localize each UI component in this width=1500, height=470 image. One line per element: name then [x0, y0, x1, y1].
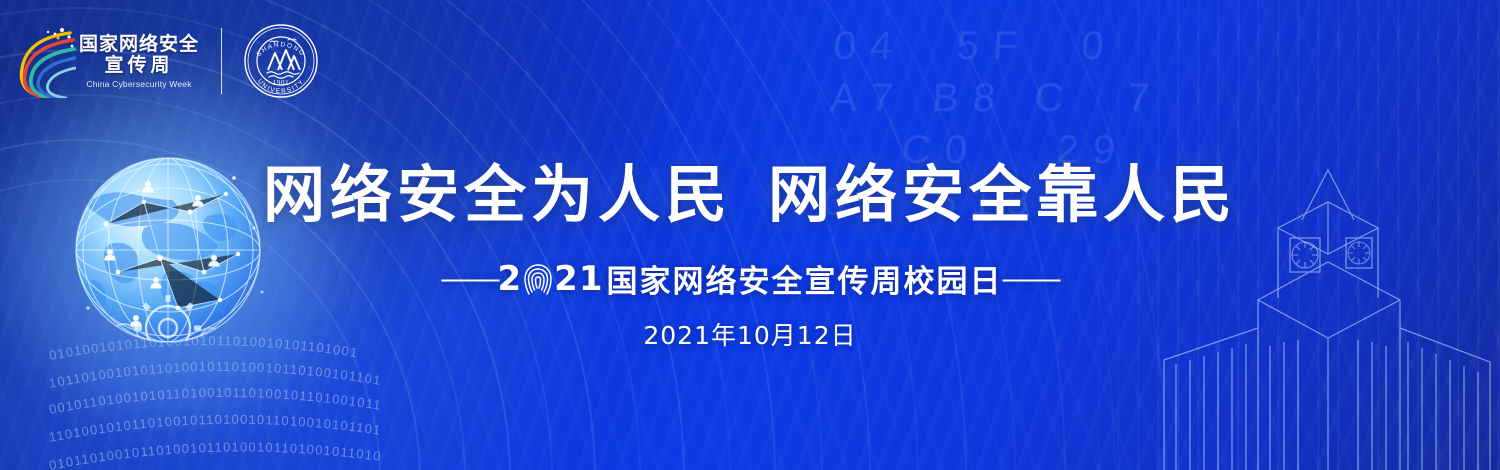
fingerprint-icon [523, 262, 553, 296]
title-part-1: 网络安全为人民 [263, 158, 732, 231]
subtitle-year: 2 21 [497, 259, 603, 299]
cybersecurity-week-banner: 04 5F 0 A7 B8 C 7 C0 29 0 513 0101001010… [0, 0, 1500, 470]
logo-bar: 国家网络安全 宣传周 China Cybersecurity Week [14, 22, 320, 100]
page-title: 网络安全为人民网络安全靠人民 [0, 144, 1500, 234]
emblem-year: 1901 [273, 79, 289, 87]
logo-divider [221, 28, 222, 94]
binary-row: 0101101001011010010110100101101001011010 [48, 439, 383, 470]
subtitle-text: 国家网络安全宣传周校园日 [607, 256, 1003, 301]
logo-line-2: 宣传周 [79, 55, 199, 76]
subtitle-dash-left: —— [441, 262, 497, 296]
subtitle-dash-right: —— [1003, 262, 1059, 296]
emblem-arc-top: SHANDONG [256, 41, 307, 58]
year-digit-3: 2 [554, 259, 579, 299]
shandong-university-emblem-icon: 1901 SHANDONG UNIVERSITY [242, 22, 320, 100]
title-part-2: 网络安全靠人民 [768, 158, 1237, 231]
year-digit-4: 1 [579, 259, 604, 299]
logo-english-name: China Cybersecurity Week [79, 79, 199, 89]
event-date: 2021年10月12日 [0, 316, 1500, 352]
year-digit-1: 2 [497, 259, 522, 299]
swoosh-ribbon-icon [14, 24, 76, 98]
logo-line-1: 国家网络安全 [79, 34, 199, 55]
subtitle: —— 2 21 国家网络安全宣传周校园日 —— [0, 256, 1500, 301]
cybersecurity-week-wordmark: 国家网络安全 宣传周 China Cybersecurity Week [79, 34, 199, 89]
cybersecurity-week-logo: 国家网络安全 宣传周 China Cybersecurity Week [14, 22, 199, 100]
